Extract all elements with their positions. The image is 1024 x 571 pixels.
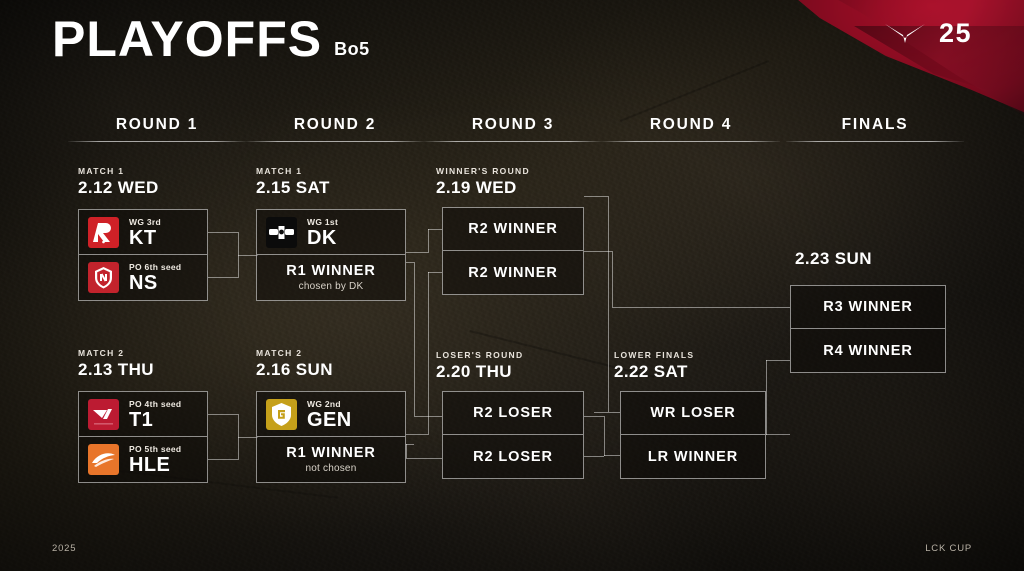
bracket-connector bbox=[238, 255, 258, 256]
gen-g-logo-icon bbox=[266, 399, 297, 430]
team-text: PO 6th seed NS bbox=[129, 262, 181, 293]
bracket-connector bbox=[414, 262, 415, 416]
match-date: 2.13 THU bbox=[78, 361, 154, 378]
team-text: PO 4th seed T1 bbox=[129, 399, 181, 430]
team-text: WG 1st DK bbox=[307, 217, 338, 248]
match-tag: LOSER'S ROUND bbox=[436, 350, 523, 360]
team-name: HLE bbox=[129, 455, 181, 475]
match-tag: LOWER FINALS bbox=[614, 350, 694, 360]
date-group-r1m1: MATCH 1 2.12 WED bbox=[78, 166, 159, 196]
bracket-connector bbox=[406, 444, 407, 458]
kt-rolster-logo-icon bbox=[88, 217, 119, 248]
team-name: DK bbox=[307, 228, 338, 248]
bracket-slot-finals-top[interactable]: R3 WINNER bbox=[790, 285, 946, 329]
bracket-connector bbox=[428, 272, 442, 273]
placeholder-label: R2 WINNER bbox=[468, 221, 557, 237]
bracket-slot-wr-top[interactable]: R2 WINNER bbox=[442, 207, 584, 251]
bracket-connector bbox=[612, 307, 790, 308]
bracket-connector bbox=[406, 262, 414, 263]
placeholder-label: R1 WINNER bbox=[286, 445, 375, 461]
bracket-slot-ns[interactable]: PO 6th seed NS bbox=[78, 255, 208, 301]
team-seed: WG 3rd bbox=[129, 217, 161, 227]
bracket-connector bbox=[406, 434, 428, 435]
brand-year: 25 bbox=[939, 20, 972, 47]
nongshim-redforce-logo-icon bbox=[88, 262, 119, 293]
date-group-r2m2: MATCH 2 2.16 SUN bbox=[256, 348, 333, 378]
bracket-connector bbox=[208, 232, 238, 233]
bracket-slot-r2m1-winner[interactable]: R1 WINNER chosen by DK bbox=[256, 255, 406, 301]
bracket-connector bbox=[238, 437, 258, 438]
team-name: T1 bbox=[129, 410, 181, 430]
round-header-round4: ROUND 4 bbox=[602, 116, 780, 142]
team-name: GEN bbox=[307, 410, 352, 430]
bracket-page: 25 PLAYOFFS Bo5 ROUND 1 ROUND 2 ROUND 3 … bbox=[0, 0, 1024, 571]
match-date: 2.15 SAT bbox=[256, 179, 330, 196]
date-group-r2m1: MATCH 1 2.15 SAT bbox=[256, 166, 330, 196]
round-header-round1: ROUND 1 bbox=[68, 116, 246, 142]
round-header-label: ROUND 2 bbox=[246, 116, 424, 134]
bracket-slot-t1[interactable]: PO 4th seed T1 bbox=[78, 391, 208, 437]
footer-event: LCK CUP bbox=[925, 543, 972, 554]
lck-brand-mark: 25 bbox=[884, 20, 972, 47]
bracket-connector bbox=[208, 277, 238, 278]
date-group-winners-round: WINNER'S ROUND 2.19 WED bbox=[436, 166, 530, 196]
placeholder-note: not chosen bbox=[306, 463, 357, 474]
title-row: PLAYOFFS Bo5 bbox=[52, 14, 370, 64]
match-tag: MATCH 1 bbox=[256, 166, 330, 176]
bracket-connector bbox=[584, 416, 604, 417]
team-seed: WG 1st bbox=[307, 217, 338, 227]
date-group-finals: 2.23 SUN bbox=[795, 250, 872, 267]
bracket-connector bbox=[406, 458, 442, 459]
bracket-slot-kt[interactable]: WG 3rd KT bbox=[78, 209, 208, 255]
round-header-label: ROUND 1 bbox=[68, 116, 246, 134]
match-date: 2.12 WED bbox=[78, 179, 159, 196]
team-seed: PO 4th seed bbox=[129, 399, 181, 409]
placeholder-label: R4 WINNER bbox=[823, 343, 912, 359]
match-tag: WINNER'S ROUND bbox=[436, 166, 530, 176]
match-tag: MATCH 2 bbox=[78, 348, 154, 358]
round-header-rule bbox=[602, 141, 780, 142]
match-date: 2.20 THU bbox=[436, 363, 523, 380]
round-header-finals: FINALS bbox=[786, 116, 964, 142]
date-group-r1m2: MATCH 2 2.13 THU bbox=[78, 348, 154, 378]
round-header-label: FINALS bbox=[786, 116, 964, 134]
bracket-connector bbox=[208, 459, 238, 460]
bracket-connector bbox=[406, 252, 428, 253]
team-seed: PO 5th seed bbox=[129, 444, 181, 454]
round-header-round3: ROUND 3 bbox=[424, 116, 602, 142]
bracket-slot-dk[interactable]: WG 1st DK bbox=[256, 209, 406, 255]
round-header-label: ROUND 3 bbox=[424, 116, 602, 134]
bracket-connector bbox=[604, 455, 620, 456]
match-date: 2.16 SUN bbox=[256, 361, 333, 378]
placeholder-label: R2 LOSER bbox=[473, 449, 553, 465]
bracket-slot-wr-bottom[interactable]: R2 WINNER bbox=[442, 251, 584, 295]
title-subtitle: Bo5 bbox=[334, 39, 370, 64]
team-seed: PO 6th seed bbox=[129, 262, 181, 272]
round-header-label: ROUND 4 bbox=[602, 116, 780, 134]
round-header-rule bbox=[246, 141, 424, 142]
team-seed: WG 2nd bbox=[307, 399, 352, 409]
placeholder-label: R2 LOSER bbox=[473, 405, 553, 421]
date-group-lower-finals: LOWER FINALS 2.22 SAT bbox=[614, 350, 694, 380]
bracket-slot-gen[interactable]: WG 2nd GEN bbox=[256, 391, 406, 437]
bracket-slot-wr-loser[interactable]: WR LOSER bbox=[620, 391, 766, 435]
placeholder-note: chosen by DK bbox=[299, 281, 364, 292]
match-date: 2.22 SAT bbox=[614, 363, 694, 380]
round-header-round2: ROUND 2 bbox=[246, 116, 424, 142]
team-text: PO 5th seed HLE bbox=[129, 444, 181, 475]
bracket-connector bbox=[766, 360, 790, 361]
placeholder-label: WR LOSER bbox=[650, 405, 735, 421]
placeholder-label: R3 WINNER bbox=[823, 299, 912, 315]
bracket-slot-lr-bottom[interactable]: R2 LOSER bbox=[442, 435, 584, 479]
bracket-connector bbox=[428, 229, 429, 253]
bracket-slot-hle[interactable]: PO 5th seed HLE bbox=[78, 437, 208, 483]
bracket-connector bbox=[208, 414, 238, 415]
bracket-connector bbox=[608, 196, 609, 412]
placeholder-label: LR WINNER bbox=[648, 449, 738, 465]
bracket-slot-finals-bottom[interactable]: R4 WINNER bbox=[790, 329, 946, 373]
bracket-connector bbox=[612, 251, 613, 307]
placeholder-label: R2 WINNER bbox=[468, 265, 557, 281]
bracket-connector bbox=[414, 416, 442, 417]
match-date: 2.19 WED bbox=[436, 179, 530, 196]
bracket-connector bbox=[604, 416, 605, 456]
team-text: WG 3rd KT bbox=[129, 217, 161, 248]
bracket-connector bbox=[766, 360, 767, 435]
t1-logo-icon bbox=[88, 399, 119, 430]
placeholder-label: R1 WINNER bbox=[286, 263, 375, 279]
hanwha-life-logo-icon bbox=[88, 444, 119, 475]
footer-year: 2025 bbox=[52, 543, 76, 554]
match-tag: MATCH 2 bbox=[256, 348, 333, 358]
bracket-connector bbox=[406, 444, 414, 445]
team-name: NS bbox=[129, 273, 181, 293]
bracket-connector bbox=[584, 196, 608, 197]
round-header-rule bbox=[786, 141, 964, 142]
match-date: 2.23 SUN bbox=[795, 250, 872, 267]
bracket-connector bbox=[584, 456, 604, 457]
bracket-connector bbox=[594, 412, 620, 413]
bracket-connector bbox=[766, 434, 790, 435]
round-header-rule bbox=[424, 141, 602, 142]
lck-v-logo-icon bbox=[884, 22, 926, 46]
bracket-connector bbox=[428, 229, 442, 230]
bracket-slot-lr-winner[interactable]: LR WINNER bbox=[620, 435, 766, 479]
dplus-kia-logo-icon bbox=[266, 217, 297, 248]
bracket-slot-lr-top[interactable]: R2 LOSER bbox=[442, 391, 584, 435]
bracket-slot-r2m2-winner[interactable]: R1 WINNER not chosen bbox=[256, 437, 406, 483]
bracket-connector bbox=[428, 272, 429, 435]
match-tag: MATCH 1 bbox=[78, 166, 159, 176]
team-name: KT bbox=[129, 228, 161, 248]
page-title: PLAYOFFS bbox=[52, 14, 322, 64]
round-header-rule bbox=[68, 141, 246, 142]
team-text: WG 2nd GEN bbox=[307, 399, 352, 430]
date-group-losers-round: LOSER'S ROUND 2.20 THU bbox=[436, 350, 523, 380]
